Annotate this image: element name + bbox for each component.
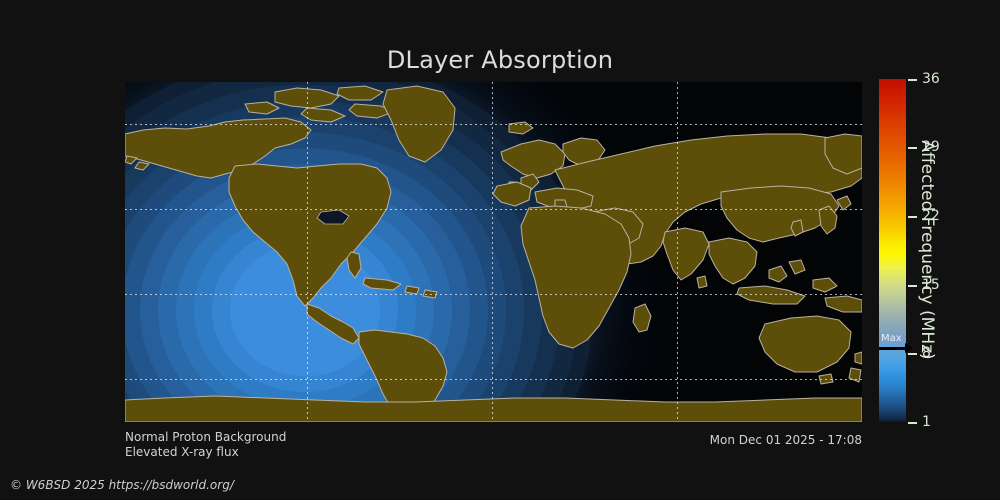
graticule-lon-180: [492, 82, 493, 422]
continents-layer: [125, 82, 862, 422]
note-xray-flux: Elevated X-ray flux: [125, 445, 239, 459]
colorbar-max-marker: Max: [879, 334, 919, 360]
max-marker-arrowhead-icon: [905, 343, 913, 353]
graticule-lon-120: [307, 82, 308, 422]
graticule-lat-neg30: [125, 379, 862, 380]
page-title: DLayer Absorption: [0, 46, 1000, 74]
timestamp: Mon Dec 01 2025 - 17:08: [0, 433, 862, 447]
colorbar[interactable]: 36 29 22 15 8 1 Max: [879, 79, 906, 422]
graticule-lat-0: [125, 294, 862, 295]
world-map[interactable]: [125, 82, 862, 422]
graticule-lon-neg120: [677, 82, 678, 422]
max-marker-label: Max: [881, 334, 902, 344]
graticule-lat-60: [125, 124, 862, 125]
dlayer-absorption-map-app: DLayer Absorption: [0, 0, 1000, 500]
copyright-notice: © W6BSD 2025 https://bsdworld.org/: [10, 478, 234, 492]
colorbar-axis-label: Affected Frequency (MHz): [916, 80, 938, 420]
graticule-lat-30: [125, 209, 862, 210]
colorbar-ticks: 36 29 22 15 8 1: [879, 79, 906, 422]
colorbar-tick-mark: [908, 422, 917, 424]
